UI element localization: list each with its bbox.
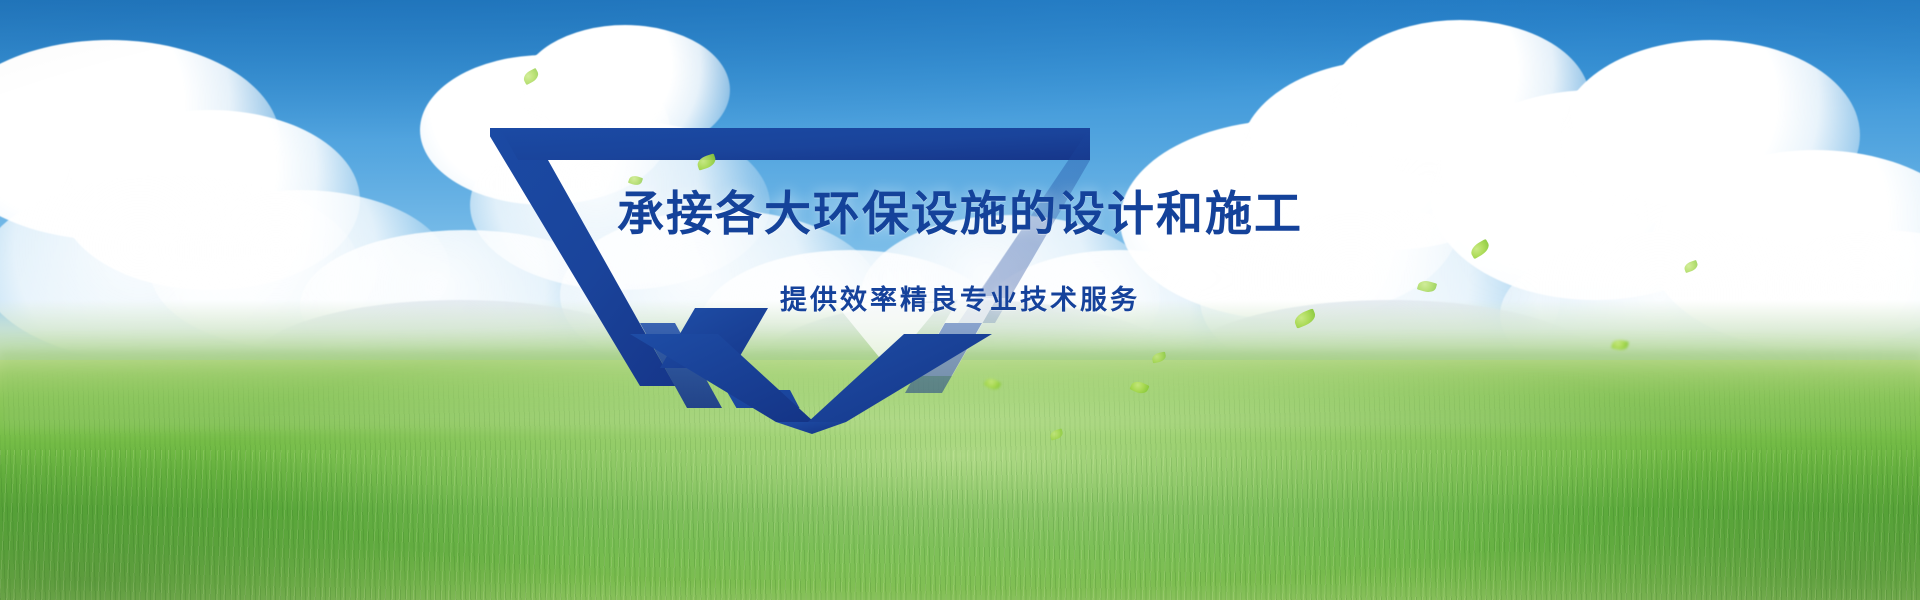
grass-blade-texture-highlight xyxy=(0,450,1920,600)
triangle-bottom-v-graphic xyxy=(600,330,1020,440)
hero-banner: 承接各大环保设施的设计和施工 提供效率精良专业技术服务 xyxy=(0,0,1920,600)
